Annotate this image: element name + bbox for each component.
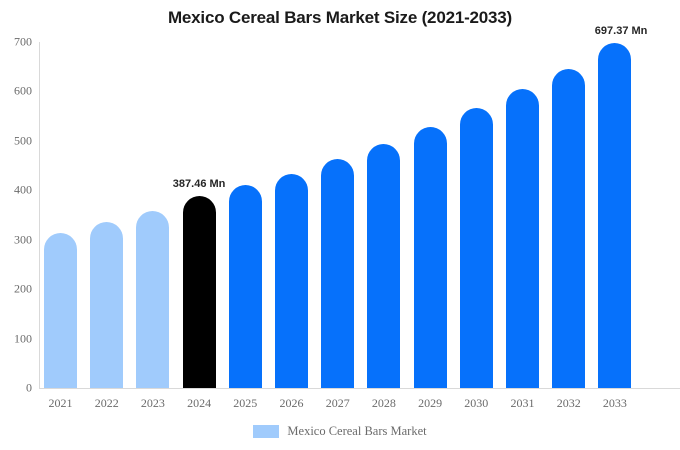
bar-group-2033[interactable]: 697.37 Mn (598, 13, 631, 388)
bar-2021[interactable] (44, 233, 77, 388)
bar-group-2026[interactable] (275, 144, 308, 388)
bar-value-label-2024: 387.46 Mn (173, 178, 226, 190)
bar-group-2024[interactable]: 387.46 Mn (183, 166, 216, 388)
bar-group-2027[interactable] (321, 129, 354, 388)
bar-2022[interactable] (90, 222, 123, 388)
chart-legend: Mexico Cereal Bars Market (0, 424, 680, 439)
bar-2024[interactable] (183, 196, 216, 388)
bar-2025[interactable] (229, 185, 262, 388)
bar-2033[interactable] (598, 43, 631, 388)
bar-value-label-2033: 697.37 Mn (595, 25, 648, 37)
bar-group-2022[interactable] (90, 192, 123, 388)
legend-swatch-icon (253, 425, 279, 438)
bar-group-2029[interactable] (414, 97, 447, 388)
bar-group-2021[interactable] (44, 203, 77, 388)
legend-label: Mexico Cereal Bars Market (287, 424, 426, 439)
bar-group-2032[interactable] (552, 39, 585, 388)
bar-2032[interactable] (552, 69, 585, 388)
bar-2031[interactable] (506, 89, 539, 388)
bar-2028[interactable] (367, 144, 400, 388)
chart-container: Mexico Cereal Bars Market Size (2021-203… (0, 0, 680, 450)
bar-group-2025[interactable] (229, 155, 262, 388)
bar-group-2031[interactable] (506, 59, 539, 388)
plot-area: 0100200300400500600700 387.46 Mn697.37 M… (0, 0, 680, 450)
bar-group-2028[interactable] (367, 114, 400, 388)
bar-group-2023[interactable] (136, 181, 169, 388)
bar-2030[interactable] (460, 108, 493, 388)
bar-2026[interactable] (275, 174, 308, 388)
bar-group-2030[interactable] (460, 78, 493, 388)
bar-2023[interactable] (136, 211, 169, 388)
bar-series: 387.46 Mn697.37 Mn (0, 0, 680, 450)
bar-2027[interactable] (321, 159, 354, 388)
bar-2029[interactable] (414, 127, 447, 388)
x-tick-2033: 2033 (587, 396, 643, 411)
